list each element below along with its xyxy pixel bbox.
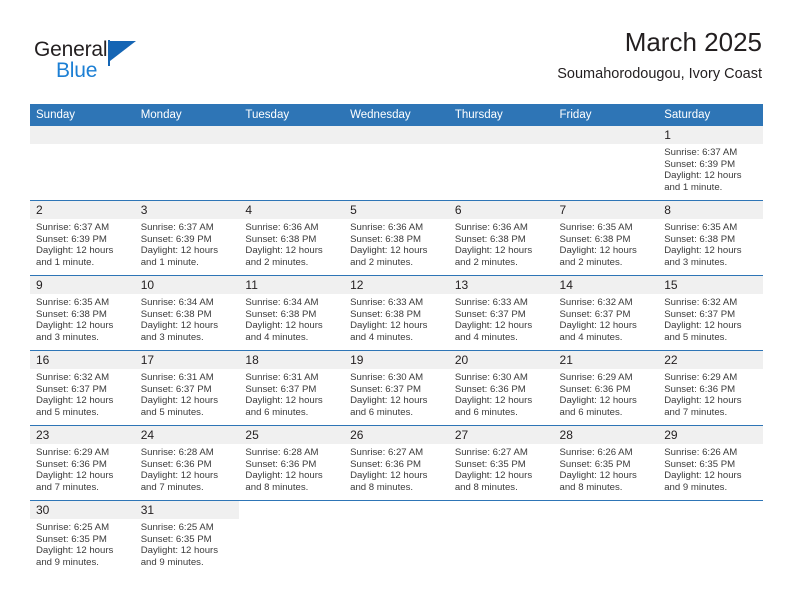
day-number: 19 <box>344 351 449 369</box>
daylight-text-line1: Daylight: 12 hours <box>141 245 233 257</box>
day-number <box>239 126 344 144</box>
calendar-week-row: 1Sunrise: 6:37 AMSunset: 6:39 PMDaylight… <box>30 126 763 201</box>
calendar-day-cell[interactable]: 16Sunrise: 6:32 AMSunset: 6:37 PMDayligh… <box>30 351 135 426</box>
sunset-text: Sunset: 6:37 PM <box>350 384 442 396</box>
day-details: Sunrise: 6:32 AMSunset: 6:37 PMDaylight:… <box>30 369 135 418</box>
sunset-text: Sunset: 6:36 PM <box>245 459 337 471</box>
weekday-header-thursday: Thursday <box>449 104 554 126</box>
daylight-text-line1: Daylight: 12 hours <box>560 245 652 257</box>
day-number: 1 <box>658 126 763 144</box>
calendar-day-cell[interactable]: 5Sunrise: 6:36 AMSunset: 6:38 PMDaylight… <box>344 201 449 276</box>
daylight-text-line2: and 6 minutes. <box>245 407 337 419</box>
day-number: 27 <box>449 426 554 444</box>
sunset-text: Sunset: 6:38 PM <box>350 309 442 321</box>
calendar-day-cell[interactable]: 9Sunrise: 6:35 AMSunset: 6:38 PMDaylight… <box>30 276 135 351</box>
day-details: Sunrise: 6:26 AMSunset: 6:35 PMDaylight:… <box>658 444 763 493</box>
day-number: 3 <box>135 201 240 219</box>
daylight-text-line2: and 1 minute. <box>141 257 233 269</box>
day-number: 10 <box>135 276 240 294</box>
sunrise-text: Sunrise: 6:36 AM <box>455 222 547 234</box>
daylight-text-line2: and 8 minutes. <box>245 482 337 494</box>
sunrise-text: Sunrise: 6:31 AM <box>245 372 337 384</box>
day-number: 8 <box>658 201 763 219</box>
location-subtitle: Soumahorodougou, Ivory Coast <box>557 66 762 82</box>
weekday-header-saturday: Saturday <box>658 104 763 126</box>
sunset-text: Sunset: 6:38 PM <box>350 234 442 246</box>
day-details: Sunrise: 6:37 AMSunset: 6:39 PMDaylight:… <box>135 219 240 268</box>
day-details: Sunrise: 6:32 AMSunset: 6:37 PMDaylight:… <box>554 294 659 343</box>
day-number: 21 <box>554 351 659 369</box>
daylight-text-line1: Daylight: 12 hours <box>350 395 442 407</box>
daylight-text-line2: and 4 minutes. <box>455 332 547 344</box>
day-details: Sunrise: 6:33 AMSunset: 6:38 PMDaylight:… <box>344 294 449 343</box>
daylight-text-line1: Daylight: 12 hours <box>141 545 233 557</box>
daylight-text-line1: Daylight: 12 hours <box>245 395 337 407</box>
calendar-day-cell[interactable]: 3Sunrise: 6:37 AMSunset: 6:39 PMDaylight… <box>135 201 240 276</box>
calendar-day-cell[interactable]: 11Sunrise: 6:34 AMSunset: 6:38 PMDayligh… <box>239 276 344 351</box>
daylight-text-line1: Daylight: 12 hours <box>560 470 652 482</box>
sunrise-text: Sunrise: 6:27 AM <box>455 447 547 459</box>
day-number: 24 <box>135 426 240 444</box>
title-block: March 2025 Soumahorodougou, Ivory Coast <box>557 28 762 82</box>
daylight-text-line1: Daylight: 12 hours <box>36 395 128 407</box>
sunset-text: Sunset: 6:39 PM <box>141 234 233 246</box>
day-number <box>135 126 240 144</box>
calendar-day-cell[interactable]: 24Sunrise: 6:28 AMSunset: 6:36 PMDayligh… <box>135 426 240 501</box>
sunset-text: Sunset: 6:36 PM <box>664 384 756 396</box>
sunrise-text: Sunrise: 6:31 AM <box>141 372 233 384</box>
calendar-day-cell[interactable]: 23Sunrise: 6:29 AMSunset: 6:36 PMDayligh… <box>30 426 135 501</box>
daylight-text-line2: and 3 minutes. <box>141 332 233 344</box>
daylight-text-line1: Daylight: 12 hours <box>664 395 756 407</box>
calendar-day-cell[interactable]: 17Sunrise: 6:31 AMSunset: 6:37 PMDayligh… <box>135 351 240 426</box>
sunrise-text: Sunrise: 6:35 AM <box>36 297 128 309</box>
weekday-header-wednesday: Wednesday <box>344 104 449 126</box>
daylight-text-line1: Daylight: 12 hours <box>455 395 547 407</box>
calendar-day-cell[interactable]: 31Sunrise: 6:25 AMSunset: 6:35 PMDayligh… <box>135 501 240 576</box>
sunset-text: Sunset: 6:37 PM <box>560 309 652 321</box>
day-number: 18 <box>239 351 344 369</box>
sunset-text: Sunset: 6:39 PM <box>664 159 756 171</box>
calendar-cell-empty <box>239 126 344 201</box>
day-details: Sunrise: 6:29 AMSunset: 6:36 PMDaylight:… <box>30 444 135 493</box>
day-number <box>30 126 135 144</box>
sunrise-text: Sunrise: 6:26 AM <box>560 447 652 459</box>
day-details: Sunrise: 6:29 AMSunset: 6:36 PMDaylight:… <box>658 369 763 418</box>
calendar-day-cell[interactable]: 4Sunrise: 6:36 AMSunset: 6:38 PMDaylight… <box>239 201 344 276</box>
sunset-text: Sunset: 6:36 PM <box>350 459 442 471</box>
daylight-text-line1: Daylight: 12 hours <box>245 320 337 332</box>
day-details: Sunrise: 6:37 AMSunset: 6:39 PMDaylight:… <box>30 219 135 268</box>
day-details: Sunrise: 6:28 AMSunset: 6:36 PMDaylight:… <box>135 444 240 493</box>
sunrise-text: Sunrise: 6:29 AM <box>664 372 756 384</box>
daylight-text-line1: Daylight: 12 hours <box>245 245 337 257</box>
daylight-text-line2: and 3 minutes. <box>664 257 756 269</box>
weekday-header-monday: Monday <box>135 104 240 126</box>
daylight-text-line2: and 7 minutes. <box>664 407 756 419</box>
sunrise-text: Sunrise: 6:36 AM <box>350 222 442 234</box>
sunset-text: Sunset: 6:35 PM <box>560 459 652 471</box>
weekday-header-row: Sunday Monday Tuesday Wednesday Thursday… <box>30 104 763 126</box>
daylight-text-line2: and 6 minutes. <box>455 407 547 419</box>
general-blue-logo[interactable]: General Blue <box>34 38 164 90</box>
daylight-text-line2: and 1 minute. <box>664 182 756 194</box>
calendar-week-row: 16Sunrise: 6:32 AMSunset: 6:37 PMDayligh… <box>30 351 763 426</box>
day-details: Sunrise: 6:26 AMSunset: 6:35 PMDaylight:… <box>554 444 659 493</box>
calendar-grid: Sunday Monday Tuesday Wednesday Thursday… <box>30 104 763 575</box>
sunrise-text: Sunrise: 6:37 AM <box>141 222 233 234</box>
calendar-day-cell[interactable]: 15Sunrise: 6:32 AMSunset: 6:37 PMDayligh… <box>658 276 763 351</box>
day-details: Sunrise: 6:30 AMSunset: 6:36 PMDaylight:… <box>449 369 554 418</box>
calendar-day-cell[interactable]: 26Sunrise: 6:27 AMSunset: 6:36 PMDayligh… <box>344 426 449 501</box>
sunset-text: Sunset: 6:38 PM <box>245 309 337 321</box>
calendar-day-cell[interactable]: 21Sunrise: 6:29 AMSunset: 6:36 PMDayligh… <box>554 351 659 426</box>
day-number: 23 <box>30 426 135 444</box>
daylight-text-line2: and 9 minutes. <box>664 482 756 494</box>
daylight-text-line2: and 3 minutes. <box>36 332 128 344</box>
sunrise-text: Sunrise: 6:34 AM <box>141 297 233 309</box>
daylight-text-line2: and 4 minutes. <box>560 332 652 344</box>
day-number: 2 <box>30 201 135 219</box>
day-number: 5 <box>344 201 449 219</box>
day-details: Sunrise: 6:35 AMSunset: 6:38 PMDaylight:… <box>658 219 763 268</box>
sunrise-text: Sunrise: 6:37 AM <box>664 147 756 159</box>
day-number: 12 <box>344 276 449 294</box>
calendar-cell-empty <box>344 501 449 576</box>
day-details: Sunrise: 6:34 AMSunset: 6:38 PMDaylight:… <box>135 294 240 343</box>
daylight-text-line2: and 2 minutes. <box>245 257 337 269</box>
calendar-day-cell[interactable]: 6Sunrise: 6:36 AMSunset: 6:38 PMDaylight… <box>449 201 554 276</box>
daylight-text-line1: Daylight: 12 hours <box>350 470 442 482</box>
calendar-day-cell[interactable]: 1Sunrise: 6:37 AMSunset: 6:39 PMDaylight… <box>658 126 763 201</box>
sunset-text: Sunset: 6:36 PM <box>36 459 128 471</box>
sunset-text: Sunset: 6:38 PM <box>664 234 756 246</box>
sunset-text: Sunset: 6:37 PM <box>455 309 547 321</box>
day-number: 9 <box>30 276 135 294</box>
daylight-text-line1: Daylight: 12 hours <box>664 320 756 332</box>
calendar-day-cell[interactable]: 13Sunrise: 6:33 AMSunset: 6:37 PMDayligh… <box>449 276 554 351</box>
sunrise-text: Sunrise: 6:28 AM <box>141 447 233 459</box>
sunset-text: Sunset: 6:38 PM <box>36 309 128 321</box>
calendar-body: 1Sunrise: 6:37 AMSunset: 6:39 PMDaylight… <box>30 126 763 575</box>
calendar-day-cell[interactable]: 10Sunrise: 6:34 AMSunset: 6:38 PMDayligh… <box>135 276 240 351</box>
daylight-text-line1: Daylight: 12 hours <box>36 245 128 257</box>
sunset-text: Sunset: 6:36 PM <box>560 384 652 396</box>
calendar-day-cell[interactable]: 19Sunrise: 6:30 AMSunset: 6:37 PMDayligh… <box>344 351 449 426</box>
daylight-text-line2: and 8 minutes. <box>350 482 442 494</box>
sunrise-text: Sunrise: 6:30 AM <box>350 372 442 384</box>
day-number: 29 <box>658 426 763 444</box>
day-number <box>449 126 554 144</box>
daylight-text-line1: Daylight: 12 hours <box>141 470 233 482</box>
day-number: 31 <box>135 501 240 519</box>
day-number: 11 <box>239 276 344 294</box>
calendar-day-cell[interactable]: 18Sunrise: 6:31 AMSunset: 6:37 PMDayligh… <box>239 351 344 426</box>
sunrise-text: Sunrise: 6:32 AM <box>560 297 652 309</box>
sunset-text: Sunset: 6:38 PM <box>455 234 547 246</box>
day-details: Sunrise: 6:29 AMSunset: 6:36 PMDaylight:… <box>554 369 659 418</box>
sunrise-text: Sunrise: 6:28 AM <box>245 447 337 459</box>
daylight-text-line1: Daylight: 12 hours <box>664 245 756 257</box>
sunset-text: Sunset: 6:39 PM <box>36 234 128 246</box>
calendar-day-cell[interactable]: 2Sunrise: 6:37 AMSunset: 6:39 PMDaylight… <box>30 201 135 276</box>
day-number <box>344 126 449 144</box>
daylight-text-line2: and 7 minutes. <box>141 482 233 494</box>
calendar-day-cell[interactable]: 14Sunrise: 6:32 AMSunset: 6:37 PMDayligh… <box>554 276 659 351</box>
day-details: Sunrise: 6:27 AMSunset: 6:36 PMDaylight:… <box>344 444 449 493</box>
sunrise-text: Sunrise: 6:32 AM <box>664 297 756 309</box>
day-details: Sunrise: 6:31 AMSunset: 6:37 PMDaylight:… <box>239 369 344 418</box>
day-details: Sunrise: 6:35 AMSunset: 6:38 PMDaylight:… <box>554 219 659 268</box>
day-number: 17 <box>135 351 240 369</box>
daylight-text-line2: and 8 minutes. <box>455 482 547 494</box>
calendar-page: General Blue March 2025 Soumahorodougou,… <box>0 0 792 612</box>
day-number: 22 <box>658 351 763 369</box>
day-number: 20 <box>449 351 554 369</box>
sunrise-text: Sunrise: 6:30 AM <box>455 372 547 384</box>
day-details: Sunrise: 6:30 AMSunset: 6:37 PMDaylight:… <box>344 369 449 418</box>
sunrise-text: Sunrise: 6:29 AM <box>560 372 652 384</box>
calendar-day-cell[interactable]: 7Sunrise: 6:35 AMSunset: 6:38 PMDaylight… <box>554 201 659 276</box>
calendar-day-cell[interactable]: 25Sunrise: 6:28 AMSunset: 6:36 PMDayligh… <box>239 426 344 501</box>
calendar-day-cell[interactable]: 22Sunrise: 6:29 AMSunset: 6:36 PMDayligh… <box>658 351 763 426</box>
calendar-cell-empty <box>554 501 659 576</box>
calendar-day-cell[interactable]: 28Sunrise: 6:26 AMSunset: 6:35 PMDayligh… <box>554 426 659 501</box>
day-number: 26 <box>344 426 449 444</box>
daylight-text-line1: Daylight: 12 hours <box>141 395 233 407</box>
day-details: Sunrise: 6:36 AMSunset: 6:38 PMDaylight:… <box>344 219 449 268</box>
daylight-text-line1: Daylight: 12 hours <box>664 470 756 482</box>
sunset-text: Sunset: 6:37 PM <box>664 309 756 321</box>
day-number: 6 <box>449 201 554 219</box>
day-details: Sunrise: 6:36 AMSunset: 6:38 PMDaylight:… <box>239 219 344 268</box>
calendar-day-cell[interactable]: 12Sunrise: 6:33 AMSunset: 6:38 PMDayligh… <box>344 276 449 351</box>
logo-flag-icon <box>110 41 136 61</box>
weekday-header-sunday: Sunday <box>30 104 135 126</box>
daylight-text-line2: and 2 minutes. <box>455 257 547 269</box>
daylight-text-line2: and 8 minutes. <box>560 482 652 494</box>
day-number: 13 <box>449 276 554 294</box>
sunrise-text: Sunrise: 6:35 AM <box>664 222 756 234</box>
sunset-text: Sunset: 6:36 PM <box>141 459 233 471</box>
daylight-text-line1: Daylight: 12 hours <box>36 545 128 557</box>
daylight-text-line1: Daylight: 12 hours <box>455 320 547 332</box>
day-number: 30 <box>30 501 135 519</box>
day-details: Sunrise: 6:25 AMSunset: 6:35 PMDaylight:… <box>30 519 135 568</box>
day-number: 14 <box>554 276 659 294</box>
sunrise-text: Sunrise: 6:25 AM <box>141 522 233 534</box>
sunrise-text: Sunrise: 6:34 AM <box>245 297 337 309</box>
sunset-text: Sunset: 6:38 PM <box>141 309 233 321</box>
daylight-text-line1: Daylight: 12 hours <box>245 470 337 482</box>
day-number <box>554 126 659 144</box>
daylight-text-line1: Daylight: 12 hours <box>141 320 233 332</box>
sunset-text: Sunset: 6:35 PM <box>141 534 233 546</box>
daylight-text-line2: and 5 minutes. <box>36 407 128 419</box>
calendar-cell-empty <box>239 501 344 576</box>
calendar-cell-empty <box>554 126 659 201</box>
page-title: March 2025 <box>557 28 762 57</box>
sunrise-text: Sunrise: 6:35 AM <box>560 222 652 234</box>
daylight-text-line2: and 2 minutes. <box>350 257 442 269</box>
sunrise-text: Sunrise: 6:33 AM <box>350 297 442 309</box>
daylight-text-line2: and 4 minutes. <box>350 332 442 344</box>
daylight-text-line1: Daylight: 12 hours <box>664 170 756 182</box>
day-number: 4 <box>239 201 344 219</box>
calendar-cell-empty <box>344 126 449 201</box>
daylight-text-line2: and 9 minutes. <box>36 557 128 569</box>
calendar-day-cell[interactable]: 8Sunrise: 6:35 AMSunset: 6:38 PMDaylight… <box>658 201 763 276</box>
daylight-text-line2: and 9 minutes. <box>141 557 233 569</box>
daylight-text-line2: and 2 minutes. <box>560 257 652 269</box>
sunset-text: Sunset: 6:37 PM <box>36 384 128 396</box>
day-number: 15 <box>658 276 763 294</box>
day-number: 16 <box>30 351 135 369</box>
weekday-header-tuesday: Tuesday <box>239 104 344 126</box>
daylight-text-line2: and 1 minute. <box>36 257 128 269</box>
calendar-day-cell[interactable]: 20Sunrise: 6:30 AMSunset: 6:36 PMDayligh… <box>449 351 554 426</box>
daylight-text-line1: Daylight: 12 hours <box>560 320 652 332</box>
daylight-text-line2: and 4 minutes. <box>245 332 337 344</box>
daylight-text-line1: Daylight: 12 hours <box>36 320 128 332</box>
daylight-text-line1: Daylight: 12 hours <box>350 320 442 332</box>
sunrise-text: Sunrise: 6:36 AM <box>245 222 337 234</box>
calendar-day-cell[interactable]: 29Sunrise: 6:26 AMSunset: 6:35 PMDayligh… <box>658 426 763 501</box>
day-details: Sunrise: 6:34 AMSunset: 6:38 PMDaylight:… <box>239 294 344 343</box>
sunrise-text: Sunrise: 6:37 AM <box>36 222 128 234</box>
logo-text-blue: Blue <box>56 59 97 83</box>
daylight-text-line1: Daylight: 12 hours <box>36 470 128 482</box>
daylight-text-line2: and 6 minutes. <box>350 407 442 419</box>
day-details: Sunrise: 6:31 AMSunset: 6:37 PMDaylight:… <box>135 369 240 418</box>
sunrise-text: Sunrise: 6:29 AM <box>36 447 128 459</box>
calendar-cell-empty <box>449 126 554 201</box>
weekday-header-friday: Friday <box>554 104 659 126</box>
day-details: Sunrise: 6:35 AMSunset: 6:38 PMDaylight:… <box>30 294 135 343</box>
daylight-text-line2: and 6 minutes. <box>560 407 652 419</box>
day-details: Sunrise: 6:37 AMSunset: 6:39 PMDaylight:… <box>658 144 763 193</box>
sunset-text: Sunset: 6:35 PM <box>455 459 547 471</box>
day-details: Sunrise: 6:33 AMSunset: 6:37 PMDaylight:… <box>449 294 554 343</box>
daylight-text-line1: Daylight: 12 hours <box>350 245 442 257</box>
daylight-text-line2: and 5 minutes. <box>141 407 233 419</box>
calendar-week-row: 30Sunrise: 6:25 AMSunset: 6:35 PMDayligh… <box>30 501 763 576</box>
daylight-text-line1: Daylight: 12 hours <box>455 470 547 482</box>
sunrise-text: Sunrise: 6:32 AM <box>36 372 128 384</box>
calendar-day-cell[interactable]: 30Sunrise: 6:25 AMSunset: 6:35 PMDayligh… <box>30 501 135 576</box>
day-details: Sunrise: 6:25 AMSunset: 6:35 PMDaylight:… <box>135 519 240 568</box>
sunrise-text: Sunrise: 6:27 AM <box>350 447 442 459</box>
daylight-text-line1: Daylight: 12 hours <box>560 395 652 407</box>
day-number: 25 <box>239 426 344 444</box>
daylight-text-line2: and 7 minutes. <box>36 482 128 494</box>
day-details: Sunrise: 6:28 AMSunset: 6:36 PMDaylight:… <box>239 444 344 493</box>
calendar-cell-empty <box>449 501 554 576</box>
day-details: Sunrise: 6:27 AMSunset: 6:35 PMDaylight:… <box>449 444 554 493</box>
calendar-cell-empty <box>135 126 240 201</box>
sunset-text: Sunset: 6:38 PM <box>245 234 337 246</box>
sunrise-text: Sunrise: 6:25 AM <box>36 522 128 534</box>
calendar-week-row: 9Sunrise: 6:35 AMSunset: 6:38 PMDaylight… <box>30 276 763 351</box>
day-number: 7 <box>554 201 659 219</box>
sunrise-text: Sunrise: 6:26 AM <box>664 447 756 459</box>
sunset-text: Sunset: 6:36 PM <box>455 384 547 396</box>
sunset-text: Sunset: 6:35 PM <box>664 459 756 471</box>
sunset-text: Sunset: 6:37 PM <box>245 384 337 396</box>
page-header: General Blue March 2025 Soumahorodougou,… <box>30 28 762 98</box>
calendar-cell-empty <box>30 126 135 201</box>
day-details: Sunrise: 6:36 AMSunset: 6:38 PMDaylight:… <box>449 219 554 268</box>
calendar-day-cell[interactable]: 27Sunrise: 6:27 AMSunset: 6:35 PMDayligh… <box>449 426 554 501</box>
day-number: 28 <box>554 426 659 444</box>
daylight-text-line1: Daylight: 12 hours <box>455 245 547 257</box>
sunset-text: Sunset: 6:35 PM <box>36 534 128 546</box>
daylight-text-line2: and 5 minutes. <box>664 332 756 344</box>
calendar-week-row: 23Sunrise: 6:29 AMSunset: 6:36 PMDayligh… <box>30 426 763 501</box>
calendar-cell-empty <box>658 501 763 576</box>
day-details: Sunrise: 6:32 AMSunset: 6:37 PMDaylight:… <box>658 294 763 343</box>
calendar-week-row: 2Sunrise: 6:37 AMSunset: 6:39 PMDaylight… <box>30 201 763 276</box>
sunset-text: Sunset: 6:37 PM <box>141 384 233 396</box>
sunrise-text: Sunrise: 6:33 AM <box>455 297 547 309</box>
sunset-text: Sunset: 6:38 PM <box>560 234 652 246</box>
